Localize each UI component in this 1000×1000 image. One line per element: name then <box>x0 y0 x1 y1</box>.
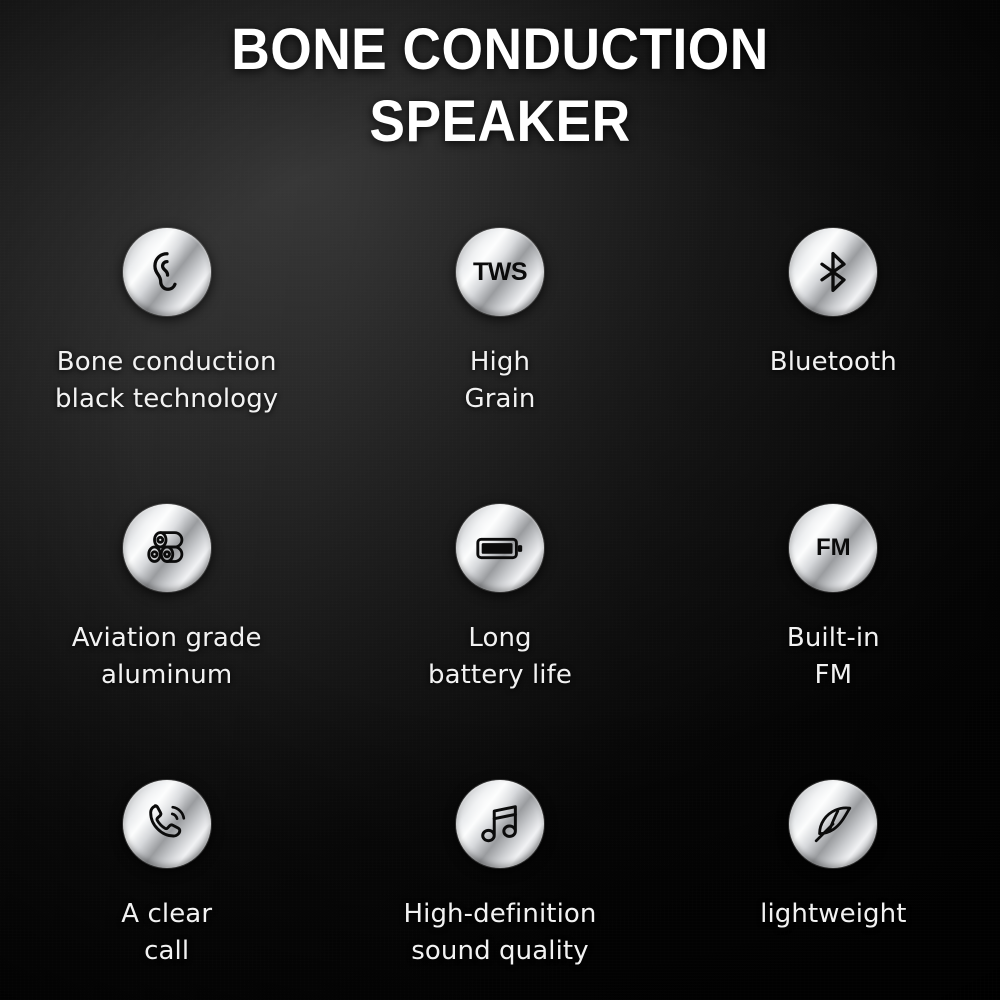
fm-text-icon: FM <box>816 536 851 560</box>
feature-badge <box>123 780 211 868</box>
battery-full-icon <box>473 521 527 575</box>
feature-caption: lightweight <box>760 896 906 933</box>
feature-badge <box>123 504 211 592</box>
feature-cell-bluetooth: Bluetooth <box>667 228 1000 504</box>
feature-badge <box>789 228 877 316</box>
feature-cell-aluminum: Aviation grade aluminum <box>0 504 333 780</box>
aluminum-tubes-icon <box>142 523 192 573</box>
phone-call-icon <box>143 800 191 848</box>
feature-caption: High Grain <box>465 344 536 418</box>
feature-badge: FM <box>789 504 877 592</box>
feature-badge <box>123 228 211 316</box>
feature-caption: Aviation grade aluminum <box>72 620 262 694</box>
feature-caption: Built-in FM <box>787 620 880 694</box>
feature-grid: Bone conduction black technology TWS Hig… <box>0 228 1000 1000</box>
ear-icon <box>144 249 190 295</box>
product-feature-poster: BONE CONDUCTION SPEAKER Bone conduction … <box>0 0 1000 1000</box>
tws-text-icon: TWS <box>473 260 527 285</box>
feature-caption: High-definition sound quality <box>403 896 596 970</box>
feature-badge: TWS <box>456 228 544 316</box>
feature-caption: A clear call <box>121 896 212 970</box>
feather-icon <box>809 800 857 848</box>
bluetooth-icon <box>811 250 855 294</box>
feature-cell-high-grain: TWS High Grain <box>333 228 666 504</box>
feature-badge <box>456 504 544 592</box>
feature-cell-fm: FM Built-in FM <box>667 504 1000 780</box>
feature-badge <box>789 780 877 868</box>
title-line-2: SPEAKER <box>40 86 960 158</box>
feature-cell-lightweight: lightweight <box>667 780 1000 1000</box>
feature-cell-sound-quality: High-definition sound quality <box>333 780 666 1000</box>
feature-cell-clear-call: A clear call <box>0 780 333 1000</box>
feature-cell-bone-conduction: Bone conduction black technology <box>0 228 333 504</box>
poster-title: BONE CONDUCTION SPEAKER <box>0 14 1000 158</box>
feature-badge <box>456 780 544 868</box>
title-line-1: BONE CONDUCTION <box>40 14 960 86</box>
feature-caption: Bone conduction black technology <box>55 344 278 418</box>
feature-caption: Bluetooth <box>770 344 897 381</box>
feature-cell-battery: Long battery life <box>333 504 666 780</box>
music-note-icon <box>476 800 524 848</box>
feature-caption: Long battery life <box>428 620 572 694</box>
